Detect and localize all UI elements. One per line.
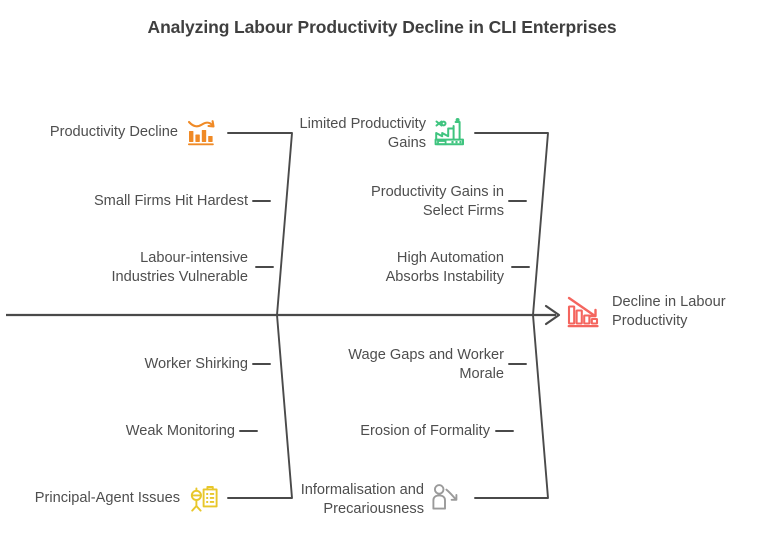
cause-label-principal-agent-issues[interactable]: Principal-Agent Issues [8,489,180,508]
effect-node[interactable]: Decline in Labour Productivity [563,292,726,332]
fishbone-diagram: Analyzing Labour Productivity Decline in… [0,0,764,538]
spine-arrowhead [546,306,559,324]
cause-label-weak-monitoring[interactable]: Weak Monitoring [23,422,235,441]
cause-label-high-automation[interactable]: High Automation Absorbs Instability [312,249,504,288]
cause-label-worker-shirking[interactable]: Worker Shirking [36,355,248,374]
cause-label-informalisation-precariousness[interactable]: Informalisation and Precariousness [258,481,424,520]
factory-icon [433,116,467,150]
cause-label-erosion-of-formality[interactable]: Erosion of Formality [292,422,490,441]
cause-label-wage-gaps-worker-morale[interactable]: Wage Gaps and Worker Morale [292,346,504,385]
effect-label: Decline in Labour Productivity [612,293,726,332]
bone-lower-right [475,315,548,498]
page-title: Analyzing Labour Productivity Decline in… [132,15,632,40]
cause-label-limited-productivity-gains[interactable]: Limited Productivity Gains [264,115,426,154]
declining-bar-chart-icon [563,292,603,332]
cause-label-productivity-decline[interactable]: Productivity Decline [16,123,178,142]
cause-label-small-firms-hit-hardest[interactable]: Small Firms Hit Hardest [36,192,248,211]
declining-bar-chart-icon [185,115,219,149]
cause-label-productivity-gains-select-firms[interactable]: Productivity Gains in Select Firms [292,183,504,222]
cause-label-labour-intensive-industries[interactable]: Labour-intensive Industries Vulnerable [56,249,248,288]
bone-lower-left [228,315,292,498]
person-clipboard-icon [187,481,221,515]
person-down-arrow-icon [430,480,464,514]
